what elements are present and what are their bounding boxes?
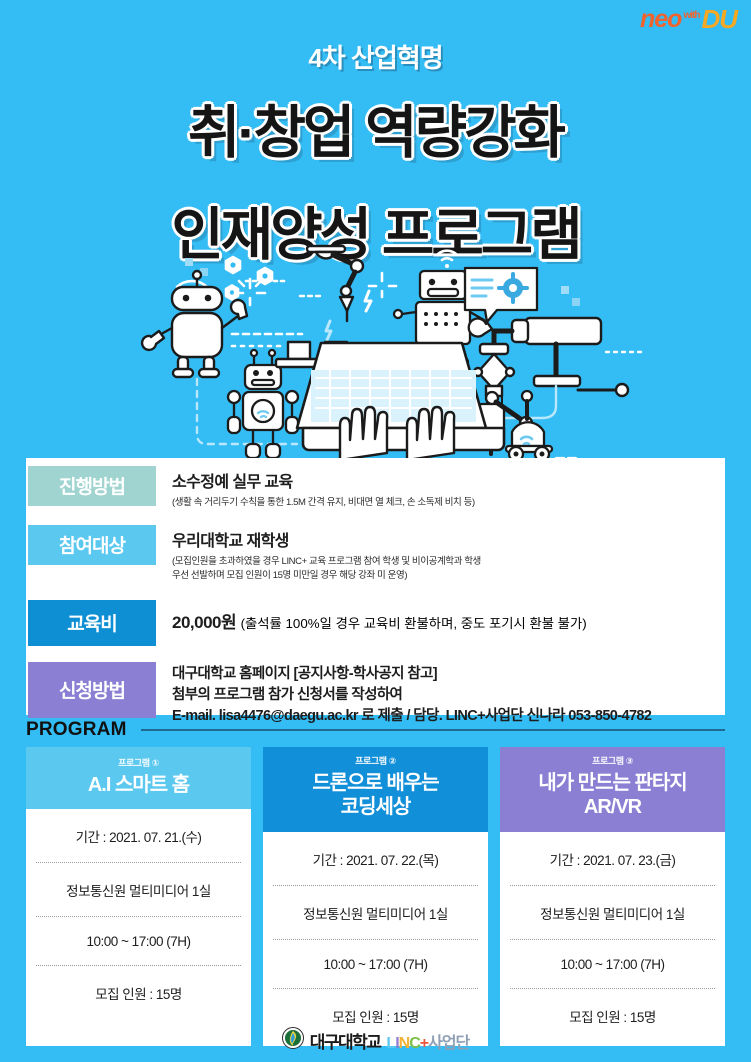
program-card[interactable]: 프로그램 ① A.I 스마트 홈 기간 : 2021. 07. 21.(수) 정…: [26, 747, 251, 1046]
program-card-place: 정보통신원 멀티미디어 1실: [273, 886, 478, 940]
settings-bubble-icon: [465, 268, 537, 322]
linc-letter-l: L: [386, 1035, 395, 1052]
program-card-capacity: 모집 인원 : 15명: [36, 966, 241, 1019]
program-card-kicker: 프로그램 ①: [32, 756, 245, 769]
info-body-target: 우리대학교 재학생 (모집인원을 초과하였을 경우 LINC+ 교육 프로그램 …: [156, 525, 725, 584]
info-row-target: 참여대상 우리대학교 재학생 (모집인원을 초과하였을 경우 LINC+ 교육 …: [26, 525, 725, 584]
info-amount-fee: 20,000원: [172, 613, 236, 632]
poster-root: neo with DU 4차 산업혁명 취·창업 역량강화 인재양성 프로그램: [0, 0, 751, 1062]
program-card-title: 내가 만드는 판타지 AR/VR: [506, 771, 719, 820]
info-label-fee: 교육비: [28, 600, 156, 646]
info-label-target: 참여대상: [28, 525, 156, 565]
program-section-heading: PROGRAM: [26, 719, 725, 741]
program-card-period: 기간 : 2021. 07. 23.(금): [510, 832, 715, 886]
program-card-kicker: 프로그램 ③: [506, 754, 719, 767]
headline-eyebrow: 4차 산업혁명: [0, 38, 751, 75]
info-label-apply: 신청방법: [28, 662, 156, 718]
daegu-university-emblem-icon: [282, 1027, 304, 1054]
tech-illustration: [0, 236, 751, 460]
brand-du-text: DU: [701, 6, 737, 32]
program-card-title: 드론으로 배우는 코딩세상: [269, 771, 482, 820]
program-card[interactable]: 프로그램 ③ 내가 만드는 판타지 AR/VR 기간 : 2021. 07. 2…: [500, 747, 725, 1046]
info-panel: 진행방법 소수정예 실무 교육 (생활 속 거리두기 수칙을 통한 1.5M 간…: [26, 458, 725, 715]
linc-letter-plus: +: [420, 1035, 428, 1052]
program-card-body: 기간 : 2021. 07. 21.(수) 정보통신원 멀티미디어 1실 10:…: [26, 809, 251, 1023]
footer-logos: 대구대학교 LINC+사업단: [0, 1027, 751, 1054]
info-lines-apply: 대구대학교 홈페이지 [공지사항-학사공지 참고] 첨부의 프로그램 참가 신청…: [172, 664, 725, 727]
program-card-period: 기간 : 2021. 07. 22.(목): [273, 832, 478, 886]
info-body-fee: 20,000원 (출석률 100%일 경우 교육비 환불하며, 중도 포기시 환…: [156, 600, 725, 633]
program-card-body: 기간 : 2021. 07. 22.(목) 정보통신원 멀티미디어 1실 10:…: [263, 832, 488, 1046]
laptop-icon: [297, 343, 504, 460]
program-card-header: 프로그램 ① A.I 스마트 홈: [26, 747, 251, 809]
info-body-apply: 대구대학교 홈페이지 [공지사항-학사공지 참고] 첨부의 프로그램 참가 신청…: [156, 662, 725, 727]
brand-logo: neo with DU: [640, 6, 737, 32]
info-label-method: 진행방법: [28, 466, 156, 506]
footer-university-name: 대구대학교: [310, 1028, 381, 1053]
program-card[interactable]: 프로그램 ② 드론으로 배우는 코딩세상 기간 : 2021. 07. 22.(…: [263, 747, 488, 1046]
brand-with-text: with: [683, 11, 699, 32]
program-heading-label: PROGRAM: [26, 719, 127, 741]
program-heading-rule: [141, 729, 725, 731]
headline-title-line1: 취·창업 역량강화: [0, 87, 751, 169]
info-row-fee: 교육비 20,000원 (출석률 100%일 경우 교육비 환불하며, 중도 포…: [26, 600, 725, 646]
info-title-target: 우리대학교 재학생: [172, 527, 725, 551]
info-body-method: 소수정예 실무 교육 (생활 속 거리두기 수칙을 통한 1.5M 간격 유지,…: [156, 466, 725, 511]
info-sub-target: (모집인원을 초과하였을 경우 LINC+ 교육 프로그램 참여 학생 및 비이…: [172, 555, 725, 584]
program-card-header: 프로그램 ② 드론으로 배우는 코딩세상: [263, 747, 488, 832]
linc-tail-text: 사업단: [428, 1035, 469, 1052]
program-card-period: 기간 : 2021. 07. 21.(수): [36, 809, 241, 863]
brand-neo-text: neo: [640, 7, 681, 32]
program-card-title: A.I 스마트 홈: [32, 773, 245, 797]
program-card-list: 프로그램 ① A.I 스마트 홈 기간 : 2021. 07. 21.(수) 정…: [26, 747, 725, 1046]
program-card-time: 10:00 ~ 17:00 (7H): [273, 940, 478, 989]
info-sub-fee: (출석률 100%일 경우 교육비 환불하며, 중도 포기시 환불 불가): [241, 616, 587, 631]
info-row-apply: 신청방법 대구대학교 홈페이지 [공지사항-학사공지 참고] 첨부의 프로그램 …: [26, 662, 725, 727]
program-card-kicker: 프로그램 ②: [269, 754, 482, 767]
linc-letter-c: C: [409, 1035, 420, 1052]
program-card-body: 기간 : 2021. 07. 23.(금) 정보통신원 멀티미디어 1실 10:…: [500, 832, 725, 1046]
footer-linc-logo: LINC+사업단: [386, 1029, 469, 1053]
linc-letter-n: N: [399, 1035, 410, 1052]
program-card-place: 정보통신원 멀티미디어 1실: [36, 863, 241, 917]
program-card-header: 프로그램 ③ 내가 만드는 판타지 AR/VR: [500, 747, 725, 832]
info-row-method: 진행방법 소수정예 실무 교육 (생활 속 거리두기 수칙을 통한 1.5M 간…: [26, 466, 725, 511]
program-card-place: 정보통신원 멀티미디어 1실: [510, 886, 715, 940]
info-title-method: 소수정예 실무 교육: [172, 468, 725, 492]
program-card-time: 10:00 ~ 17:00 (7H): [510, 940, 715, 989]
program-card-time: 10:00 ~ 17:00 (7H): [36, 917, 241, 966]
info-sub-method: (생활 속 거리두기 수칙을 통한 1.5M 간격 유지, 비대면 열 체크, …: [172, 496, 725, 511]
